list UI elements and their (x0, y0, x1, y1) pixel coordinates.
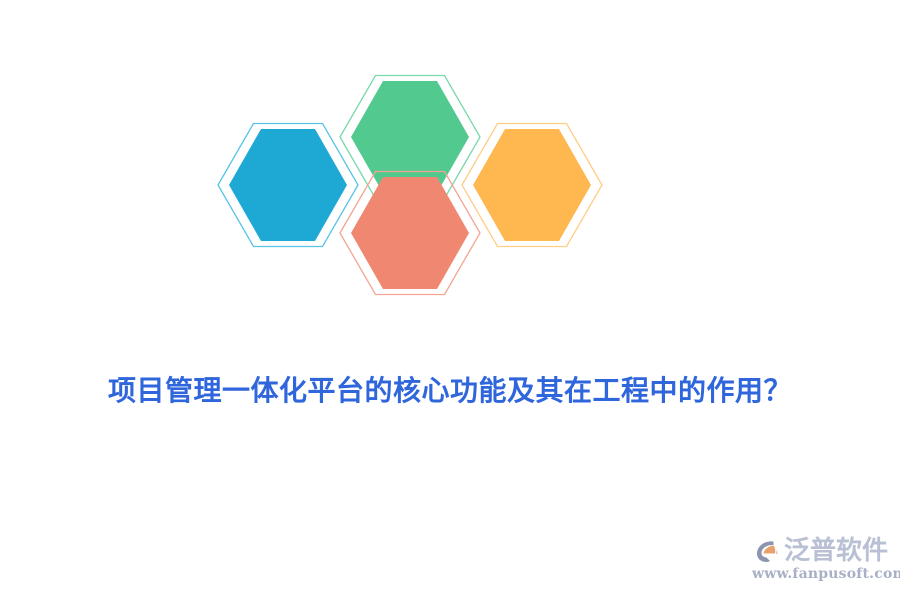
fanpu-swoosh-icon (752, 536, 782, 566)
hexagon-blue-fill (229, 129, 347, 241)
brand-name: 泛普软件 (784, 536, 888, 566)
page-title: 项目管理一体化平台的核心功能及其在工程中的作用？ (0, 372, 900, 410)
hexagon-salmon (340, 172, 480, 295)
slide-canvas: 项目管理一体化平台的核心功能及其在工程中的作用？ 泛普软件 www.fanpus… (0, 0, 900, 600)
brand-logo: 泛普软件 www.fanpusoft.com (752, 534, 888, 590)
hexagon-blue (218, 124, 358, 247)
brand-url: www.fanpusoft.com (752, 566, 888, 582)
brand-logo-row: 泛普软件 (752, 534, 888, 568)
hexagon-cluster (210, 60, 620, 345)
hexagon-orange (462, 124, 602, 247)
hexagon-orange-fill (473, 129, 591, 241)
hexagon-salmon-fill (351, 177, 469, 289)
hexagon-green-fill (351, 81, 469, 193)
